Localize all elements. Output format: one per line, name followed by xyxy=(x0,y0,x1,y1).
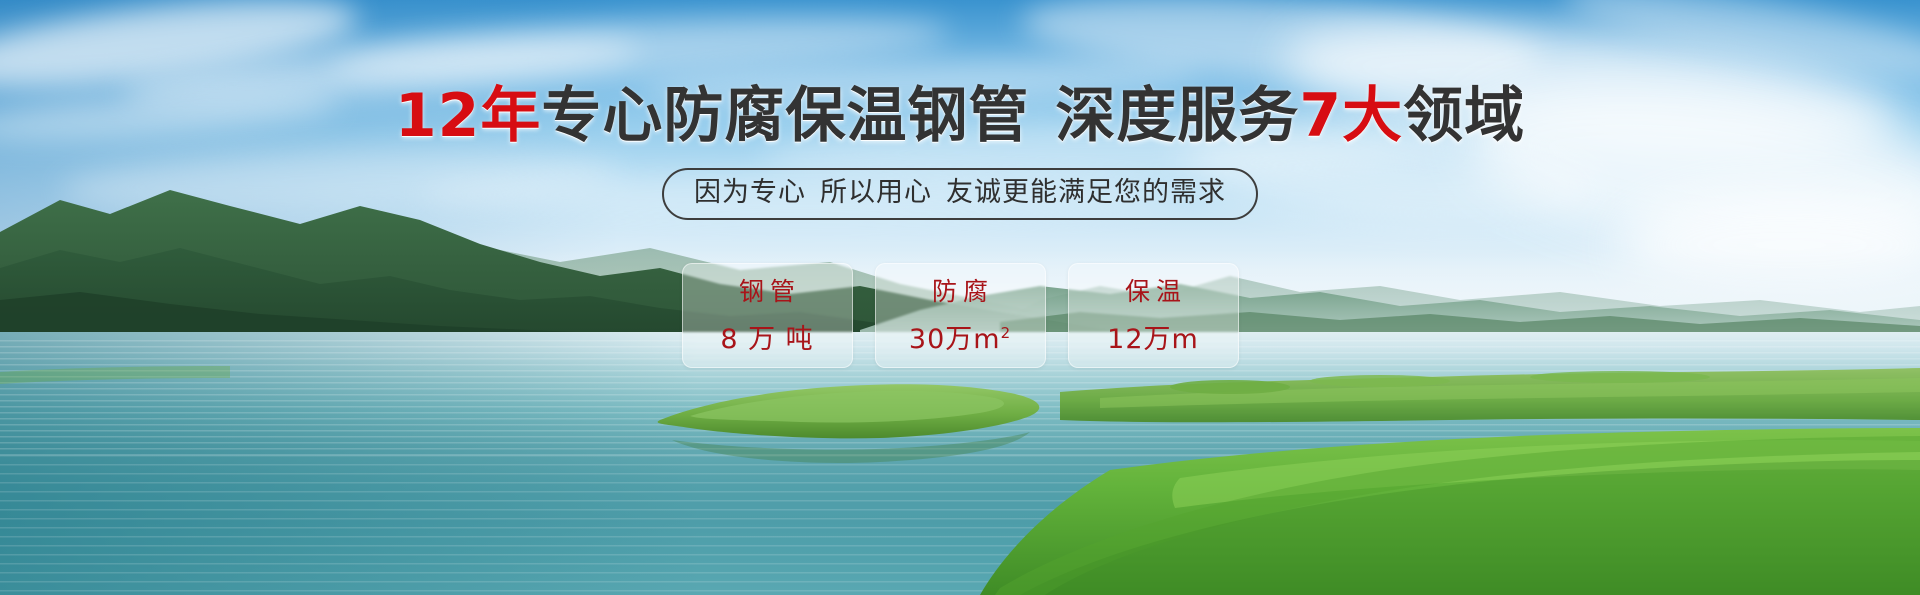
headline-years: 12年 xyxy=(395,81,542,151)
stat-card-value: 30万m2 xyxy=(909,317,1011,356)
stat-card-anticorrosion: 防腐 30万m2 xyxy=(875,263,1046,368)
headline-main-2: 深度服务 xyxy=(1055,81,1299,151)
headline-main-3: 领域 xyxy=(1403,81,1525,151)
subtitle-pill: 因为专心所以用心友诚更能满足您的需求 xyxy=(662,168,1258,220)
stat-card-title: 防腐 xyxy=(926,275,994,309)
promo-banner: 12年专心防腐保温钢管深度服务7大领域 因为专心所以用心友诚更能满足您的需求 钢… xyxy=(0,0,1920,595)
stat-card-value-text: 12万m xyxy=(1107,324,1199,355)
stat-card-insulation: 保温 12万m xyxy=(1068,263,1239,368)
page-title: 12年专心防腐保温钢管深度服务7大领域 xyxy=(0,82,1920,150)
headline-seven: 7大 xyxy=(1299,81,1403,151)
subtitle-part-2: 所以用心 xyxy=(820,177,932,208)
stat-card-value: 12万m xyxy=(1107,317,1199,356)
subtitle-container: 因为专心所以用心友诚更能满足您的需求 xyxy=(0,168,1920,220)
stat-card-title: 钢管 xyxy=(733,275,801,309)
stat-card-group: 钢管 8 万 吨 防腐 30万m2 保温 12万m xyxy=(0,263,1920,368)
subtitle-part-3: 友诚更能满足您的需求 xyxy=(946,177,1226,208)
stat-card-steel-pipe: 钢管 8 万 吨 xyxy=(682,263,853,368)
subtitle-part-1: 因为专心 xyxy=(694,177,806,208)
stat-card-title: 保温 xyxy=(1119,275,1187,309)
headline-main-1: 专心防腐保温钢管 xyxy=(541,81,1029,151)
stat-card-value: 8 万 吨 xyxy=(720,317,813,356)
stat-card-value-text: 30万m xyxy=(909,324,1001,355)
stat-card-unit-sup: 2 xyxy=(1001,324,1012,342)
stat-card-value-text: 8 万 吨 xyxy=(720,324,813,355)
